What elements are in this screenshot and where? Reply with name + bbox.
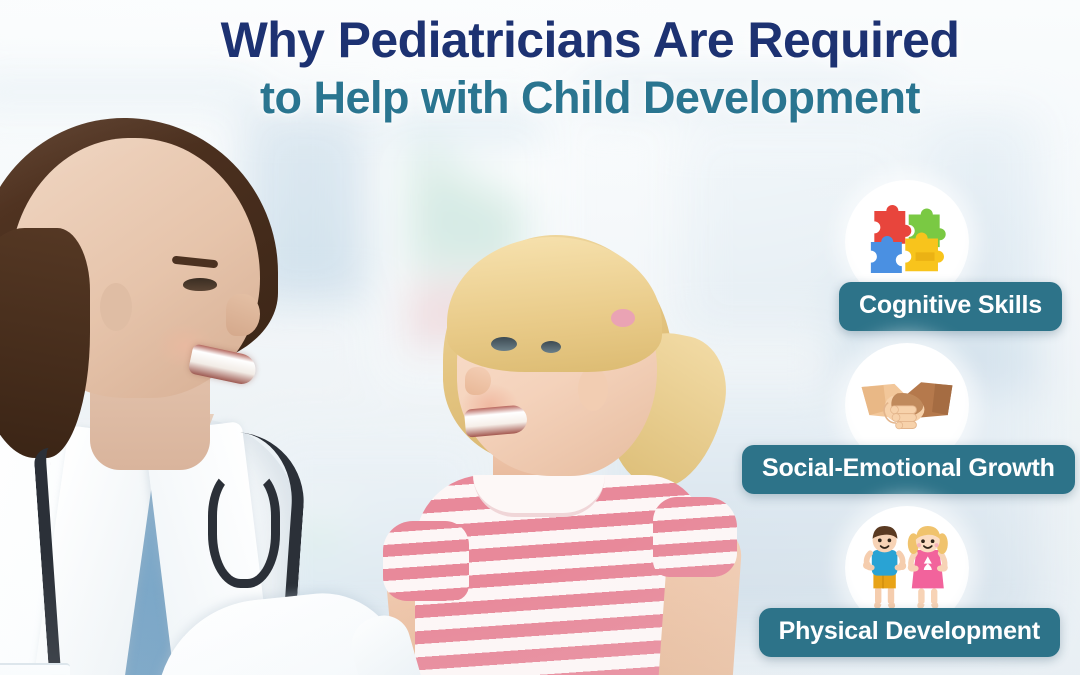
feature-label-social-emotional-growth[interactable]: Social-Emotional Growth [742,445,1075,494]
child-hair-tie [611,309,635,327]
feature-label-physical-development[interactable]: Physical Development [759,608,1060,657]
child-eye [491,337,517,351]
headline-primary: Why Pediatricians Are Required [120,14,1060,67]
child-eye [541,341,561,353]
doctor-ear [100,283,132,331]
child-ear [578,367,608,411]
two-children-icon [859,526,955,610]
poster-canvas: Why Pediatricians Are Required to Help w… [0,0,1080,675]
headline-secondary: to Help with Child Development [120,73,1060,123]
puzzle-pieces-icon [864,199,950,285]
pediatrician-figure [0,118,420,675]
feature-list: Cognitive Skills [742,180,1072,669]
child-figure [395,225,725,675]
feature-item-social-emotional-growth[interactable]: Social-Emotional Growth [742,343,1072,494]
handshake-icon [860,366,954,444]
feature-label-cognitive-skills[interactable]: Cognitive Skills [839,282,1062,331]
feature-item-cognitive-skills[interactable]: Cognitive Skills [742,180,1072,331]
child-sleeve-right [653,497,737,577]
feature-item-physical-development[interactable]: Physical Development [742,506,1072,657]
doctor-eye [183,278,217,291]
page-title: Why Pediatricians Are Required to Help w… [0,14,1080,123]
doctor-coat-pocket [0,663,70,675]
